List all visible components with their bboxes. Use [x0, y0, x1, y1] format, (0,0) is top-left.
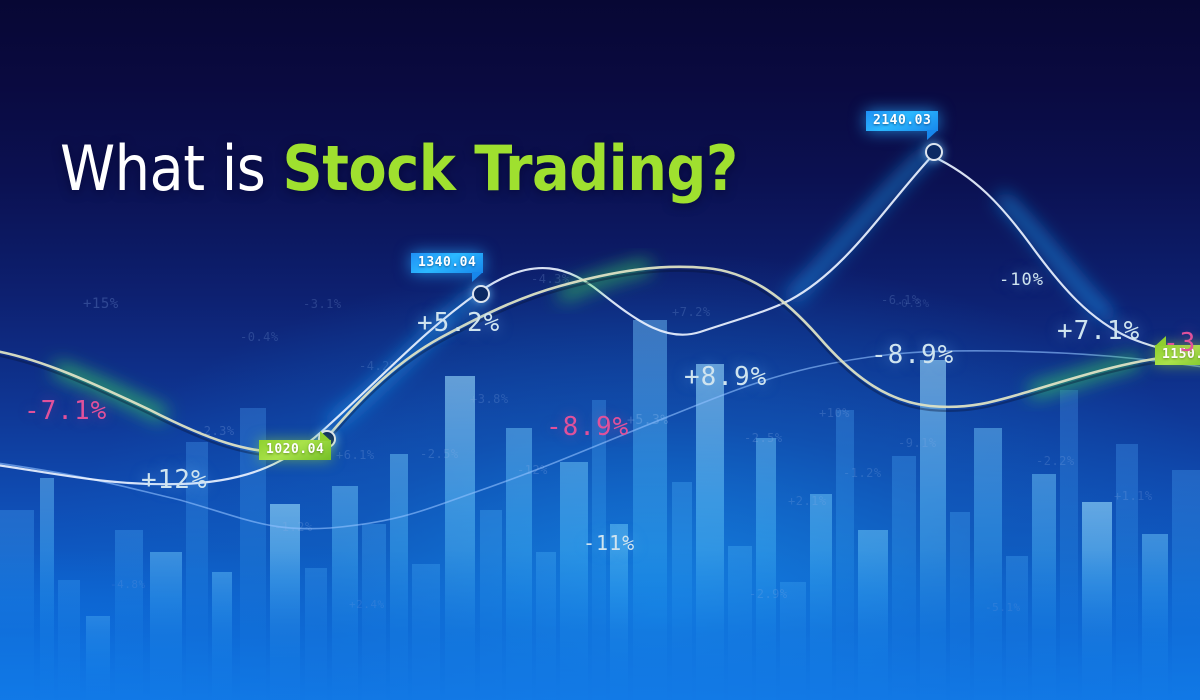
secondary-line-glow-b	[790, 150, 932, 300]
secondary-price-line	[0, 156, 1200, 484]
page-title-plain: What is	[60, 132, 283, 205]
value-tooltip[interactable]: 1150.0	[1155, 345, 1200, 365]
stock-trading-banner: +15%-2.3%-0.4%-1.2%-3.1%+6.1%-4.2%-2.5%+…	[0, 0, 1200, 700]
value-tooltip[interactable]: 2140.03	[866, 111, 938, 131]
primary-line-shadow	[0, 271, 1200, 457]
secondary-line-glow-c	[1000, 196, 1110, 318]
baseline-trend-line	[0, 351, 1200, 529]
value-tooltip[interactable]: 1340.04	[411, 253, 483, 273]
value-tooltip[interactable]: 1020.04	[259, 440, 331, 460]
page-title: What is Stock Trading?	[60, 138, 738, 200]
primary-index-line	[0, 267, 1200, 453]
page-title-accent: Stock Trading?	[283, 132, 738, 205]
trend-lines-chart	[0, 0, 1200, 700]
